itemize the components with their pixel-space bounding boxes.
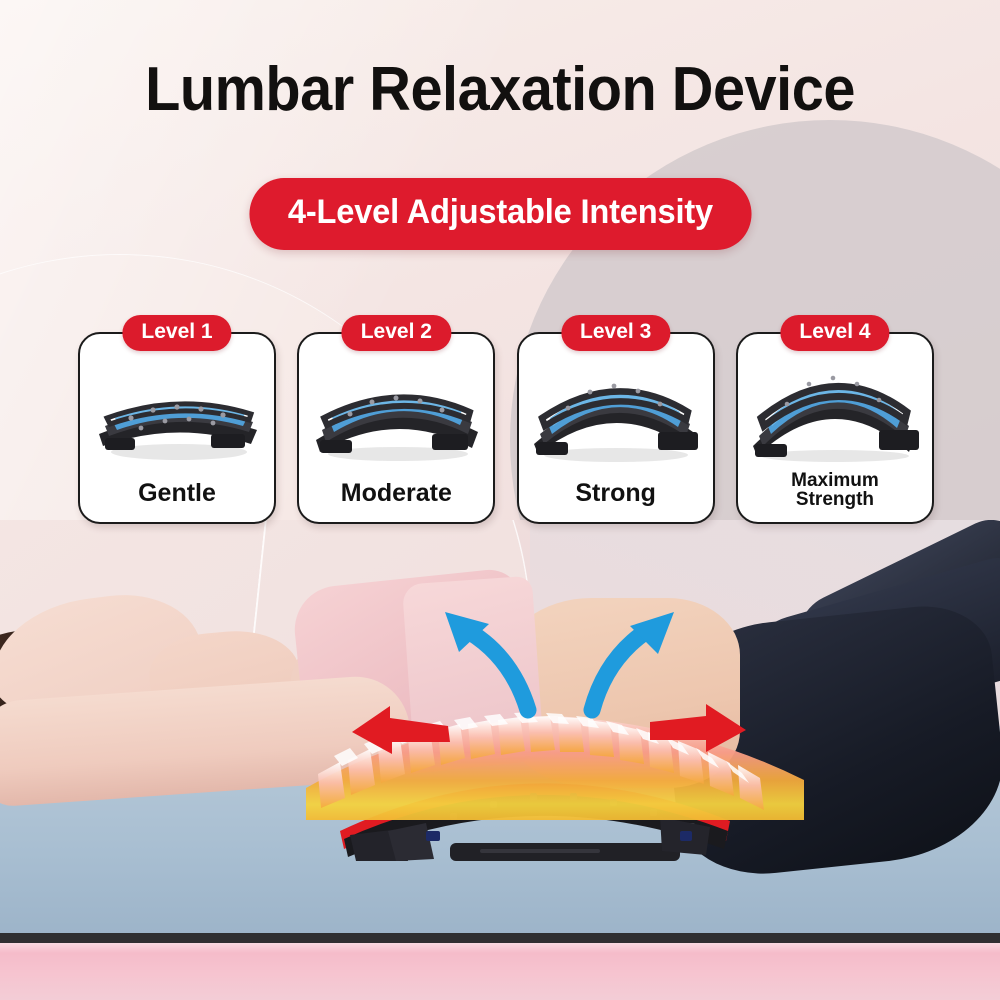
level-badge-2: Level 2 <box>342 315 451 351</box>
level-label-3: Strong <box>519 480 713 506</box>
intensity-badge: 4-Level Adjustable Intensity <box>249 178 751 250</box>
level-card-3[interactable]: Level 3 Stron <box>517 332 715 524</box>
level-label-2: Moderate <box>299 480 493 506</box>
level-badge-4: Level 4 <box>780 315 889 351</box>
level-badge-1: Level 1 <box>122 315 231 351</box>
product-infographic: Lumbar Relaxation Device 4-Level Adjusta… <box>0 0 1000 1000</box>
level-cards: Level 1 <box>78 332 934 524</box>
lumbar-stretcher-icon-1 <box>91 360 263 464</box>
level-label-4: Maximum Strength <box>738 471 932 511</box>
level-card-1[interactable]: Level 1 <box>78 332 276 524</box>
level-badge-3: Level 3 <box>561 315 670 351</box>
page-title: Lumbar Relaxation Device <box>35 54 965 125</box>
floor-strip <box>0 943 1000 1000</box>
level-label-4-line2: Strength <box>796 489 874 510</box>
level-card-4[interactable]: Level 4 <box>736 332 934 524</box>
lumbar-stretcher-icon-3 <box>530 360 702 464</box>
level-label-4-line1: Maximum <box>791 470 879 491</box>
lumbar-stretcher-icon-4 <box>749 360 921 464</box>
level-label-1: Gentle <box>80 480 274 506</box>
usage-photo <box>0 520 1000 1000</box>
heated-spine-overlay <box>300 670 810 820</box>
headline-badge-row: 4-Level Adjustable Intensity <box>0 178 1000 250</box>
yoga-mat-edge <box>0 933 1000 943</box>
level-card-2[interactable]: Level 2 Moder <box>297 332 495 524</box>
lumbar-stretcher-icon-2 <box>310 360 482 464</box>
